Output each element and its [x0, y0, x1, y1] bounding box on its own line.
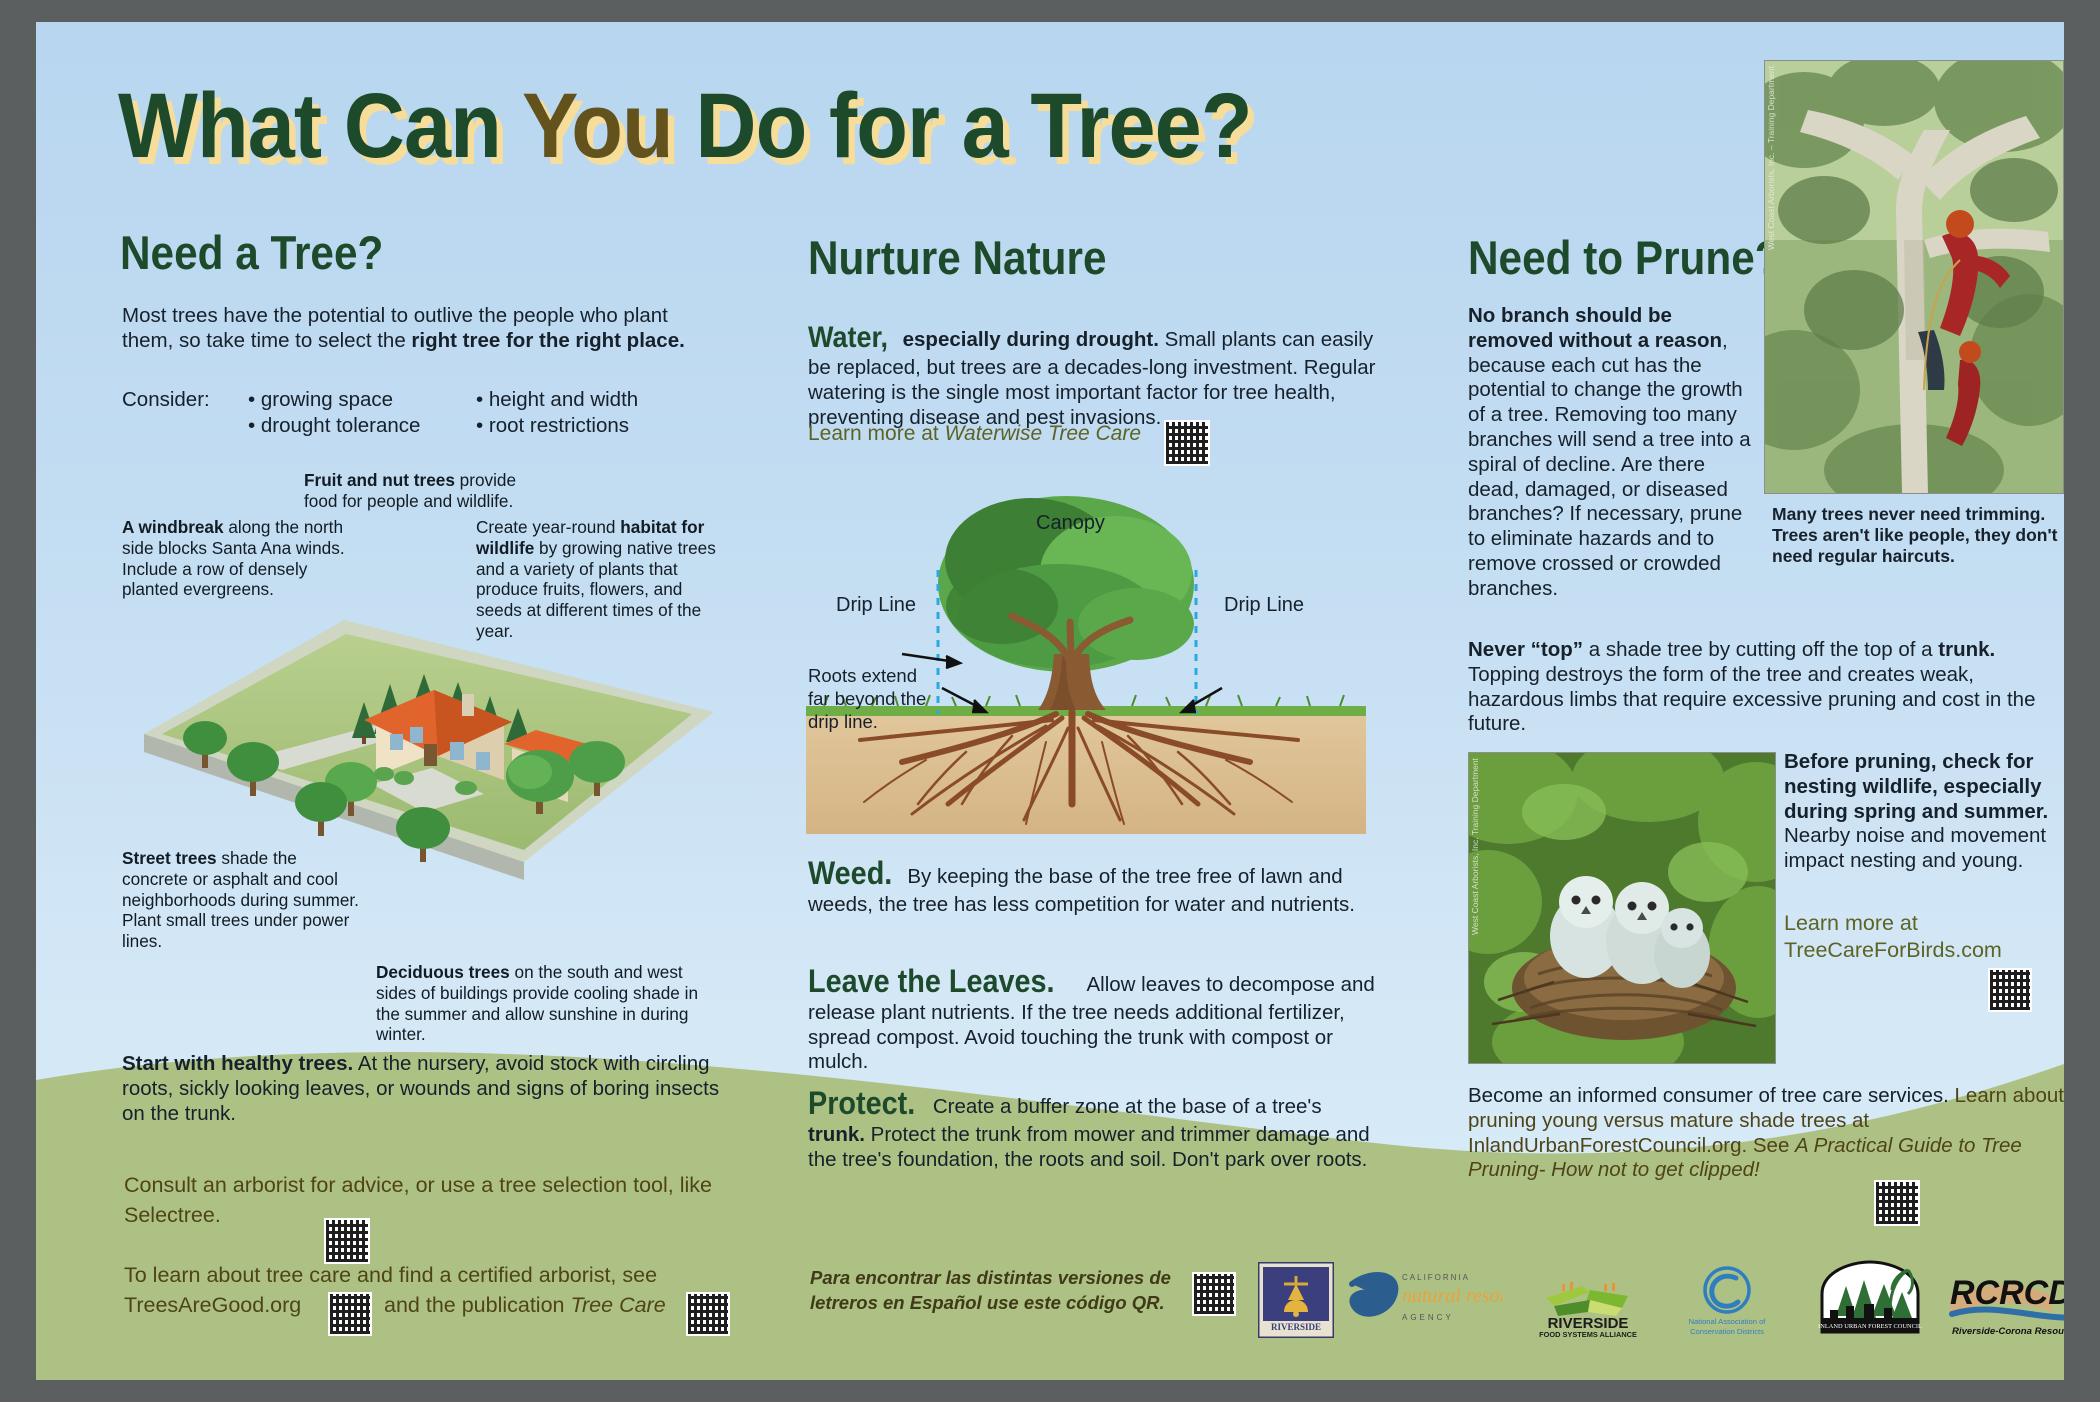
section-heading-nurture-nature: Nurture Nature [808, 234, 1107, 281]
logo-iufc-label: INLAND URBAN FOREST COUNCIL [1818, 1323, 1922, 1330]
photo-arborist-in-tree: West Coast Arborists, Inc. – Training De… [1764, 60, 2064, 494]
logo-cnra-line2: natural resources [1402, 1285, 1502, 1307]
no-branch-bold: No branch should be removed without a re… [1468, 304, 1722, 352]
photo-owlets-graphic [1468, 752, 1776, 1064]
consumer-line1: Become an informed consumer of tree care… [1468, 1084, 1949, 1107]
logo-cnra-line3: AGENCY [1402, 1313, 1454, 1322]
left-intro-paragraph: Most trees have the potential to outlive… [122, 304, 722, 354]
nesting-rest: Nearby noise and movement impact nesting… [1784, 824, 2046, 872]
logo-ca-natural-resources-agency: CALIFORNIA natural resources AGENCY [1344, 1262, 1502, 1338]
healthy-bold: Start with healthy trees. [122, 1052, 353, 1075]
diagram-label-roots-extend: Roots extend far beyond the drip line. [808, 664, 928, 733]
weed-run-head: Weed. [808, 854, 892, 893]
waterwise-learn-more[interactable]: Learn more at Waterwise Tree Care [808, 422, 1141, 446]
leaves-run-head: Leave the Leaves. [808, 962, 1055, 1001]
never-top-paragraph: Never “top” a shade tree by cutting off … [1468, 638, 2064, 737]
page-title: What Can You Do for a Tree? [118, 80, 1252, 172]
nesting-bold: Before pruning, check for nesting wildli… [1784, 750, 2048, 823]
left-intro-bold: right tree for the right place. [411, 329, 684, 352]
logo-nacd-line1: National Association of [1689, 1317, 1767, 1326]
footer-line2-mid: and the publication [384, 1293, 570, 1317]
annotation-habitat-pre: Create year-round [476, 517, 620, 537]
annotation-fruit-and-nut-trees: Fruit and nut trees provide food for peo… [304, 470, 554, 512]
logo-riverside-food-systems-alliance: RIVERSIDE FOOD SYSTEMS ALLIANCE [1524, 1262, 1652, 1338]
annotation-deciduous-bold: Deciduous trees [376, 962, 510, 982]
consider-label: Consider: [122, 388, 210, 413]
annotation-deciduous-trees: Deciduous trees on the south and west si… [376, 962, 706, 1045]
qr-code-treesaregood[interactable] [328, 1292, 372, 1336]
diagram-label-canopy: Canopy [1036, 512, 1105, 535]
annotation-street-bold: Street trees [122, 848, 217, 868]
protect-run-head: Protect. [808, 1084, 915, 1123]
qr-code-practical-guide[interactable] [1874, 1180, 1920, 1226]
consider-item-growing-space: • growing space [248, 388, 393, 413]
logo-rcrcd-fullname: Riverside-Corona Resource Conservation D… [1952, 1326, 2064, 1337]
treecareforbirds-link[interactable]: Learn more at TreeCareForBirds.com [1784, 910, 2064, 964]
annotation-windbreak-bold: A windbreak [122, 517, 224, 537]
photo-owlets-in-nest: West Coast Arborists, Inc. Training Depa… [1468, 752, 1776, 1064]
footer-consult-arborist: Consult an arborist for advice, or use a… [124, 1170, 724, 1230]
diagram-label-drip-line-right: Drip Line [1224, 594, 1304, 617]
never-top-rest: Topping destroys the form of the tree an… [1468, 663, 2035, 736]
no-branch-rest: , because each cut has the potential to … [1468, 329, 1751, 600]
photo-arborist-graphic [1764, 60, 2064, 494]
qr-code-selectree[interactable] [324, 1218, 370, 1264]
water-bold: especially during drought. [897, 328, 1159, 351]
start-with-healthy-trees: Start with healthy trees. At the nursery… [122, 1052, 722, 1126]
photo2-credit: West Coast Arborists, Inc. Training Depa… [1470, 758, 1480, 935]
protect-rest-1: Create a buffer zone at the base of a tr… [927, 1095, 1321, 1118]
qr-code-tree-care-publication[interactable] [686, 1292, 730, 1336]
annotation-fruit-bold: Fruit and nut trees [304, 470, 455, 490]
title-part-3: Do for a Tree? [695, 75, 1251, 177]
never-top-bold: Never “top” [1468, 638, 1583, 661]
weed-paragraph: Weed. By keeping the base of the tree fr… [808, 854, 1380, 918]
title-part-2: You [522, 75, 695, 177]
footer-spanish-note: Para encontrar las distintas versiones d… [810, 1266, 1190, 1316]
waterwise-link-italic[interactable]: Waterwise Tree Care [945, 422, 1141, 445]
photo1-caption: Many trees never need trimming. Trees ar… [1772, 504, 2064, 567]
protect-bold: trunk. [808, 1123, 865, 1146]
section-heading-need-a-tree: Need a Tree? [120, 229, 383, 276]
consider-item-height-width: • height and width [476, 388, 638, 413]
consider-item-drought-tolerance: • drought tolerance [248, 414, 420, 439]
never-top-bold2: trunk. [1938, 638, 1995, 661]
annotation-street-trees: Street trees shade the concrete or aspha… [122, 848, 362, 952]
qr-code-spanish-versions[interactable] [1192, 1272, 1236, 1316]
protect-rest-2: Protect the trunk from mower and trimmer… [808, 1123, 1370, 1171]
section-heading-need-to-prune: Need to Prune? [1468, 234, 1781, 281]
logo-rcrcd: RCRCD Riverside-Corona Resource Conserva… [1948, 1266, 2064, 1340]
logo-rcrcd-acronym: RCRCD [1950, 1274, 2064, 1312]
never-top-mid: a shade tree by cutting off the top of a [1583, 638, 1938, 661]
footer-line2-italic: Tree Care [570, 1293, 665, 1317]
footer-publication: and the publication Tree Care [384, 1290, 704, 1320]
title-part-1: What Can [118, 75, 522, 177]
birds-link-line2[interactable]: TreeCareForBirds.com [1784, 937, 2064, 964]
informed-consumer-paragraph: Become an informed consumer of tree care… [1468, 1084, 2064, 1183]
logo-riverside-label: RIVERSIDE [1271, 1322, 1321, 1332]
poster-board: What Can You Do for a Tree? Need a Tree?… [36, 22, 2064, 1380]
poster-root: What Can You Do for a Tree? Need a Tree?… [0, 0, 2100, 1402]
nesting-wildlife-paragraph: Before pruning, check for nesting wildli… [1784, 750, 2064, 874]
logo-nacd: National Association of Conservation Dis… [1666, 1262, 1788, 1338]
waterwise-link-pre: Learn more at [808, 422, 945, 445]
logo-nacd-line2: Conservation Districts [1690, 1327, 1764, 1336]
diagram-label-drip-line-left: Drip Line [836, 594, 916, 617]
logo-rfsa-line2: FOOD SYSTEMS ALLIANCE [1539, 1330, 1637, 1338]
logo-cnra-line1: CALIFORNIA [1402, 1273, 1470, 1282]
logo-city-of-riverside: RIVERSIDE [1258, 1262, 1334, 1338]
protect-paragraph: Protect. Create a buffer zone at the bas… [808, 1084, 1380, 1172]
birds-link-line1: Learn more at [1784, 910, 2064, 937]
water-paragraph: Water, especially during drought. Small … [808, 320, 1378, 431]
no-branch-paragraph: No branch should be removed without a re… [1468, 304, 1762, 602]
leave-the-leaves-paragraph: Leave the Leaves. Allow leaves to decomp… [808, 962, 1380, 1075]
consider-item-root-restrictions: • root restrictions [476, 414, 629, 439]
logo-inland-urban-forest-council: INLAND URBAN FOREST COUNCIL [1802, 1260, 1938, 1340]
photo1-credit: West Coast Arborists, Inc. – Training De… [1766, 66, 1776, 250]
water-run-head: Water, [808, 320, 888, 356]
qr-code-treecareforbirds[interactable] [1988, 968, 2032, 1012]
neighborhood-illustration [132, 562, 732, 892]
qr-code-waterwise[interactable] [1164, 420, 1210, 466]
